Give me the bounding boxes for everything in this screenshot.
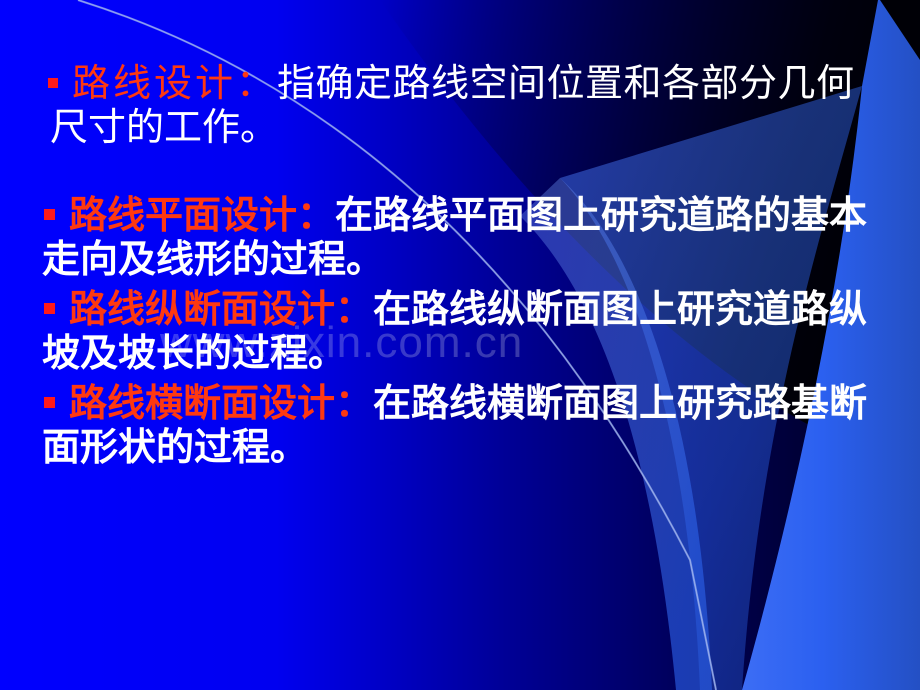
bullet-continuation: 走向及线形的过程。 bbox=[22, 238, 898, 282]
bullet-colon: ： bbox=[335, 289, 373, 331]
bullet-colon: ： bbox=[335, 383, 373, 425]
bullet-continuation: 坡及坡长的过程。 bbox=[22, 332, 898, 376]
bullet-item-3: 路线纵断面设计：在路线纵断面图上研究道路纵 坡及坡长的过程。 bbox=[22, 288, 898, 376]
bullet-text: 在路线横断面图上研究路基断 bbox=[373, 383, 867, 425]
square-bullet-icon bbox=[44, 397, 55, 408]
square-bullet-icon bbox=[44, 303, 55, 314]
bullet-term: 路线横断面设计 bbox=[69, 383, 335, 425]
bullet-line-primary: 路线设计：指确定路线空间位置和各部分几何 bbox=[22, 62, 898, 106]
bullet-line-primary: 路线横断面设计：在路线横断面图上研究路基断 bbox=[22, 382, 898, 426]
bullet-item-2: 路线平面设计：在路线平面图上研究道路的基本 走向及线形的过程。 bbox=[22, 194, 898, 282]
presentation-slide: www.zixin.com.cn 路线设计：指确定路线空间位置和各部分几何 尺寸… bbox=[0, 0, 920, 690]
bullet-text: 指确定路线空间位置和各部分几何 bbox=[277, 63, 855, 105]
bullet-line-primary: 路线纵断面设计：在路线纵断面图上研究道路纵 bbox=[22, 288, 898, 332]
bullet-continuation: 尺寸的工作。 bbox=[22, 106, 898, 150]
square-bullet-icon bbox=[48, 78, 58, 88]
bullet-item-1: 路线设计：指确定路线空间位置和各部分几何 尺寸的工作。 bbox=[22, 62, 898, 150]
bullet-continuation: 面形状的过程。 bbox=[22, 426, 898, 470]
bullet-term: 路线纵断面设计 bbox=[69, 289, 335, 331]
bullet-colon: ： bbox=[297, 195, 335, 237]
bullet-term: 路线设计 bbox=[72, 63, 236, 105]
bullet-term: 路线平面设计 bbox=[69, 195, 297, 237]
bullet-text: 在路线纵断面图上研究道路纵 bbox=[373, 289, 867, 331]
bullet-text: 在路线平面图上研究道路的基本 bbox=[335, 195, 867, 237]
square-bullet-icon bbox=[44, 209, 55, 220]
bullet-colon: ： bbox=[236, 63, 277, 105]
bullet-line-primary: 路线平面设计：在路线平面图上研究道路的基本 bbox=[22, 194, 898, 238]
slide-content: 路线设计：指确定路线空间位置和各部分几何 尺寸的工作。 路线平面设计：在路线平面… bbox=[0, 0, 920, 690]
bullet-item-4: 路线横断面设计：在路线横断面图上研究路基断 面形状的过程。 bbox=[22, 382, 898, 470]
